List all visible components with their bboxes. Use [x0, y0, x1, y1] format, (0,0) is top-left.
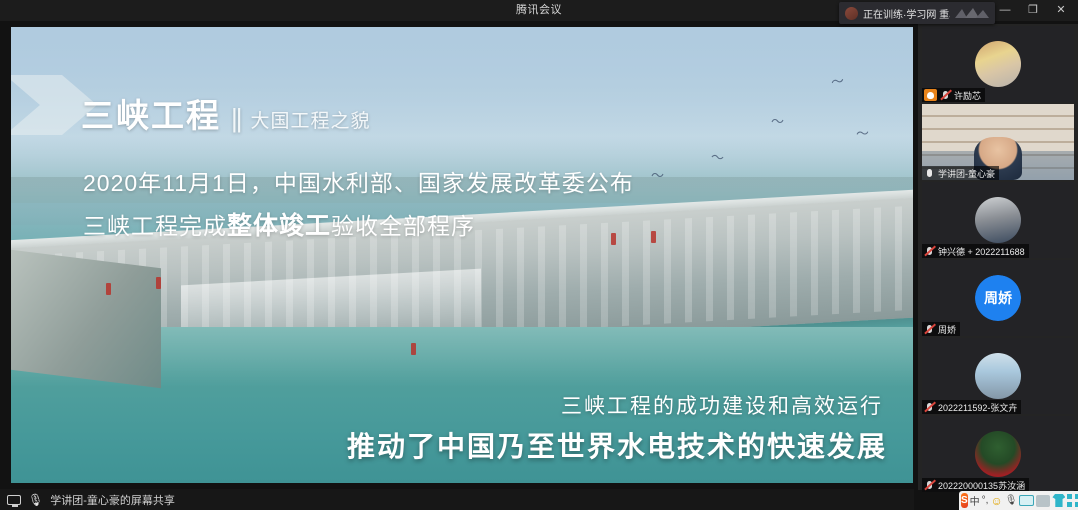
sound-wave-icon [955, 6, 989, 20]
ime-emoji-icon[interactable]: ☺ [990, 493, 1002, 509]
participant-strip[interactable]: 许励芯 学讲团-童心豪 钟兴德 + 2022211688 周娇 [918, 24, 1078, 490]
slide-line-1: 2020年11月1日，中国水利部、国家发展改革委公布 [83, 164, 634, 198]
tile-label: 202220000135苏汝涵 [922, 478, 1029, 492]
sogou-logo-icon[interactable]: S [961, 493, 968, 508]
screen-share-status-text: 学讲团-童心豪的屏幕共享 [50, 492, 175, 508]
avatar [975, 197, 1021, 243]
ime-mic-icon[interactable]: 🎙 [1005, 493, 1018, 509]
slide-title: 三峡工程 [81, 89, 221, 137]
tile-label: 学讲团-童心豪 [922, 166, 999, 180]
ime-toolbox-icon[interactable] [1036, 493, 1050, 509]
host-badge-icon [924, 89, 937, 101]
mic-muted-icon [924, 401, 935, 413]
screen-share-status-bar: 🎙 学讲团-童心豪的屏幕共享 [0, 489, 914, 510]
ime-punctuation-toggle[interactable]: °, [982, 493, 989, 509]
window-controls: — ❐ ✕ [992, 0, 1074, 21]
participant-tile[interactable]: 学讲团-童心豪 [922, 104, 1074, 180]
participant-name: 周娇 [938, 323, 956, 336]
notification-text: 正在训练·学习网 重心公益 [863, 6, 950, 21]
tile-label: 2022211592-张文卉 [922, 400, 1021, 414]
participant-tile[interactable]: 钟兴德 + 2022211688 [922, 182, 1074, 258]
slide-line-2-emphasis: 整体竣工 [227, 212, 331, 240]
avatar: 周娇 [975, 275, 1021, 321]
slide-title-row: 三峡工程 || 大国工程之貌 [81, 89, 371, 137]
tencent-meeting-window: 腾讯会议 — ❐ ✕ 正在训练·学习网 重心公益 〜 [0, 0, 1078, 510]
mic-muted-icon [924, 245, 935, 257]
participant-name: 许励芯 [954, 89, 981, 102]
mic-on-icon [924, 167, 935, 179]
user-avatar-icon [845, 7, 858, 20]
slide-line-2: 三峡工程完成整体竣工验收全部程序 [83, 206, 475, 242]
ime-toolbar[interactable]: S 中 °, ☺ 🎙 [959, 491, 1078, 510]
mic-muted-icon [924, 479, 935, 491]
participant-tile[interactable]: 2022211592-张文卉 [922, 338, 1074, 414]
participant-tile[interactable]: 许励芯 [922, 26, 1074, 102]
participant-name: 2022211592-张文卉 [938, 401, 1017, 414]
slide-line-2-prefix: 三峡工程完成 [83, 213, 227, 239]
avatar [975, 353, 1021, 399]
tile-label: 许励芯 [922, 88, 985, 102]
microphone-icon: 🎙 [28, 494, 43, 506]
shared-screen-stage[interactable]: 〜 〜 〜 〜 〜 三峡工程 || 大国工程之貌 2020年11月1日，中国水利… [11, 27, 913, 483]
avatar [975, 41, 1021, 87]
participant-name: 钟兴德 + 2022211688 [938, 245, 1025, 258]
mic-muted-icon [924, 323, 935, 335]
ime-keyboard-icon[interactable] [1019, 493, 1034, 509]
slide-subtitle: 大国工程之貌 [251, 106, 371, 133]
slide-line-2-suffix: 验收全部程序 [331, 213, 475, 239]
slide-text-layer: 三峡工程 || 大国工程之貌 2020年11月1日，中国水利部、国家发展改革委公… [11, 27, 913, 483]
participant-name: 学讲团-童心豪 [938, 167, 995, 180]
slide-bottom-line-1: 三峡工程的成功建设和高效运行 [561, 390, 883, 420]
mic-muted-icon [940, 89, 951, 101]
participant-tile[interactable]: 202220000135苏汝涵 [922, 416, 1074, 492]
notification-chip[interactable]: 正在训练·学习网 重心公益 [839, 2, 995, 24]
ime-apps-icon[interactable] [1067, 493, 1078, 509]
minimize-button[interactable]: — [992, 1, 1018, 21]
avatar-initials: 周娇 [975, 275, 1021, 321]
tile-label: 周娇 [922, 322, 960, 336]
tile-label: 钟兴德 + 2022211688 [922, 244, 1029, 258]
slide-bottom-line-2: 推动了中国乃至世界水电技术的快速发展 [347, 425, 887, 465]
screen-share-icon [7, 495, 21, 505]
participant-tile[interactable]: 周娇 周娇 [922, 260, 1074, 336]
participant-name: 202220000135苏汝涵 [938, 479, 1025, 492]
close-button[interactable]: ✕ [1048, 1, 1074, 21]
title-divider: || [231, 103, 241, 134]
ime-mode-toggle[interactable]: 中 [970, 493, 980, 509]
ime-skin-icon[interactable] [1052, 493, 1065, 509]
avatar [975, 431, 1021, 477]
maximize-button[interactable]: ❐ [1020, 1, 1046, 21]
